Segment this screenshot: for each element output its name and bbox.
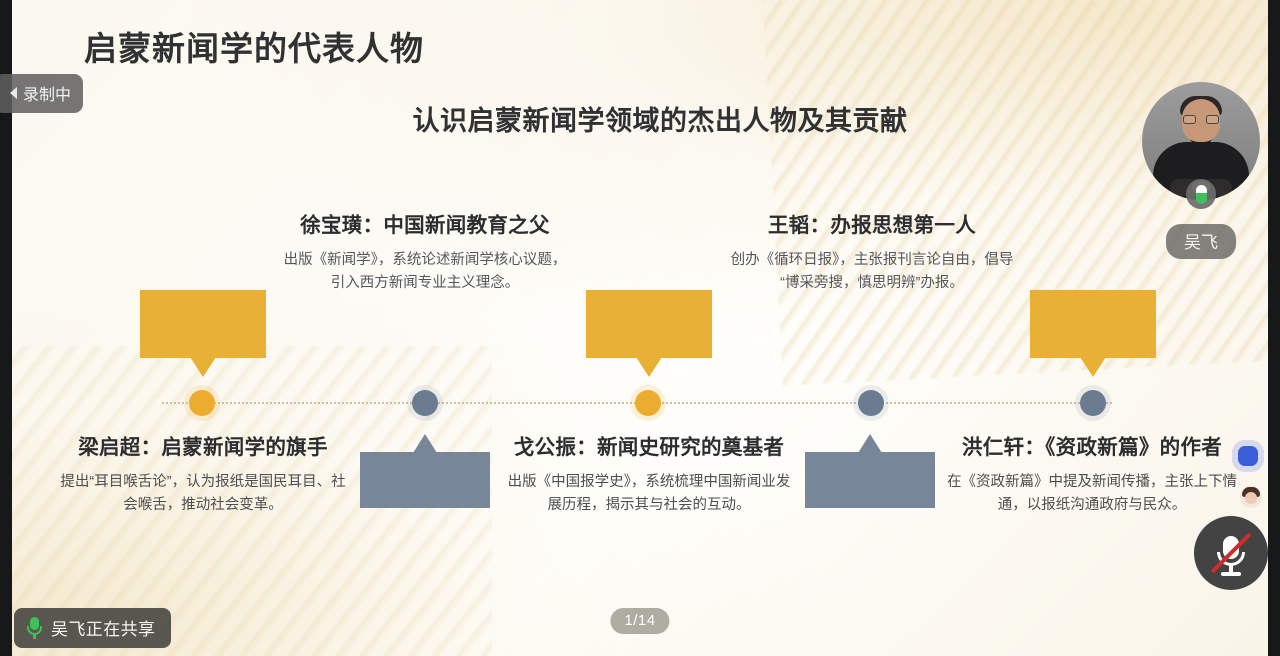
- presenter-video-tile[interactable]: 吴飞: [1142, 82, 1260, 200]
- glasses-icon: [1183, 115, 1219, 124]
- card-body-liang-qichao: 提出“耳目喉舌论”，认为报纸是国民耳目、社会喉舌，推动社会变革。: [58, 471, 348, 518]
- letterbox-right: [1268, 0, 1280, 656]
- meeting-screen-share-window: 启蒙新闻学的代表人物 认识启蒙新闻学领域的杰出人物及其贡献 梁启超：启蒙新闻学的…: [0, 0, 1280, 656]
- timeline-node-liang-qichao: [189, 390, 215, 416]
- microphone-mute-button[interactable]: [1194, 516, 1268, 590]
- sharing-status-bar[interactable]: 吴飞正在共享: [14, 608, 171, 648]
- raise-hand-indicator-icon[interactable]: [1238, 446, 1258, 466]
- timeline-box-xu-baohuang: [360, 452, 490, 508]
- microphone-green-icon: [26, 617, 43, 639]
- box-pointer-down-icon: [1080, 357, 1106, 377]
- page-indicator: 1/14: [610, 608, 669, 634]
- card-heading-liang-qichao: 梁启超：启蒙新闻学的旗手: [58, 435, 348, 462]
- timeline-node-xu-baohuang: [412, 390, 438, 416]
- card-body-wang-tao: 创办《循环日报》，主张报刊言论自由，倡导“博采旁搜，慎思明辨”办报。: [727, 249, 1017, 296]
- timeline-card-xu-baohuang: 徐宝璜：中国新闻教育之父 出版《新闻学》，系统论述新闻学核心议题，引入西方新闻专…: [280, 213, 570, 296]
- card-body-ge-gongzhen: 出版《中国报学史》，系统梳理中国新闻业发展历程，揭示其与社会的互动。: [504, 471, 794, 518]
- timeline-card-wang-tao: 王韬：办报思想第一人 创办《循环日报》，主张报刊言论自由，倡导“博采旁搜，慎思明…: [727, 213, 1017, 296]
- sharing-status-label: 吴飞正在共享: [51, 615, 155, 640]
- card-heading-xu-baohuang: 徐宝璜：中国新闻教育之父: [280, 213, 570, 240]
- slide-subtitle: 认识启蒙新闻学领域的杰出人物及其贡献: [12, 99, 1268, 138]
- card-body-hong-renxuan: 在《资政新篇》中提及新闻传播，主张上下情通，以报纸沟通政府与民众。: [947, 471, 1237, 518]
- slide-title: 启蒙新闻学的代表人物: [84, 22, 424, 70]
- timeline-box-ge-gongzhen: [586, 290, 712, 358]
- timeline-card-hong-renxuan: 洪仁轩：《资政新篇》的作者 在《资政新篇》中提及新闻传播，主张上下情通，以报纸沟…: [947, 435, 1237, 518]
- thumbnail-face: [1245, 492, 1257, 504]
- card-heading-hong-renxuan: 洪仁轩：《资政新篇》的作者: [947, 435, 1237, 462]
- card-heading-ge-gongzhen: 戈公振：新闻史研究的奠基者: [504, 435, 794, 462]
- microphone-active-icon: [1186, 179, 1216, 209]
- box-pointer-down-icon: [190, 357, 216, 377]
- timeline-node-ge-gongzhen: [635, 390, 661, 416]
- recording-badge-label: 录制中: [23, 81, 71, 105]
- recording-badge[interactable]: 录制中: [0, 74, 83, 113]
- recording-arrow-icon: [10, 87, 17, 99]
- timeline-box-liang-qichao: [140, 290, 266, 358]
- timeline-box-hong-renxuan: [1030, 290, 1156, 358]
- timeline-card-liang-qichao: 梁启超：启蒙新闻学的旗手 提出“耳目喉舌论”，认为报纸是国民耳目、社会喉舌，推动…: [58, 435, 348, 518]
- timeline-box-wang-tao: [805, 452, 935, 508]
- card-heading-wang-tao: 王韬：办报思想第一人: [727, 213, 1017, 240]
- participant-thumbnail-avatar[interactable]: [1240, 486, 1262, 508]
- timeline-node-hong-renxuan: [1080, 390, 1106, 416]
- microphone-level-indicator: [1196, 185, 1207, 204]
- microphone-base: [1221, 572, 1241, 576]
- presentation-slide: 启蒙新闻学的代表人物 认识启蒙新闻学领域的杰出人物及其贡献 梁启超：启蒙新闻学的…: [12, 0, 1268, 656]
- box-pointer-up-icon: [858, 434, 882, 453]
- presenter-name-chip: 吴飞: [1166, 224, 1236, 259]
- card-body-xu-baohuang: 出版《新闻学》，系统论述新闻学核心议题，引入西方新闻专业主义理念。: [280, 249, 570, 296]
- timeline-card-ge-gongzhen: 戈公振：新闻史研究的奠基者 出版《中国报学史》，系统梳理中国新闻业发展历程，揭示…: [504, 435, 794, 518]
- box-pointer-down-icon: [636, 357, 662, 377]
- timeline-node-wang-tao: [858, 390, 884, 416]
- box-pointer-up-icon: [413, 434, 437, 453]
